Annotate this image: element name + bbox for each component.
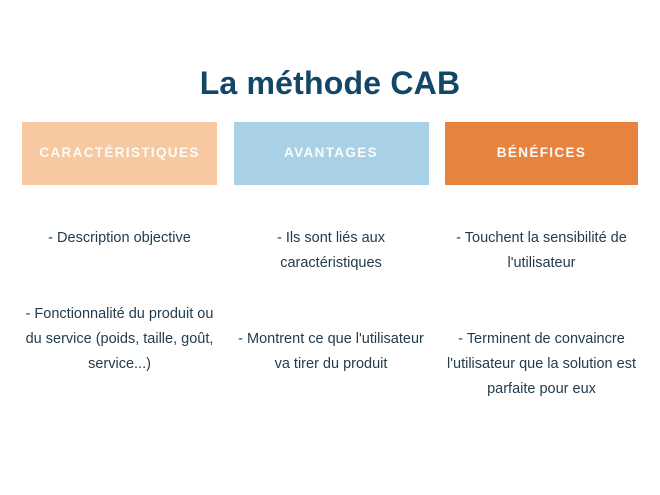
column-body-benefices: - Touchent la sensibilité de l'utilisate…: [445, 211, 638, 416]
bullet-item: - Touchent la sensibilité de l'utilisate…: [445, 226, 638, 276]
column-avantages: AVANTAGES - Ils sont liés aux caractéris…: [234, 122, 429, 391]
bullet-item: - Fonctionnalité du produit ou du servic…: [22, 302, 217, 377]
bullet-item: - Terminent de convaincre l'utilisateur …: [445, 327, 638, 402]
column-body-avantages: - Ils sont liés aux caractéristiques - M…: [234, 211, 429, 391]
bullet-item: - Description objective: [22, 226, 217, 251]
bullet-item: - Montrent ce que l'utilisateur va tirer…: [234, 327, 429, 377]
column-benefices: BÉNÉFICES - Touchent la sensibilité de l…: [445, 122, 638, 416]
column-header-label-avantages: AVANTAGES: [284, 145, 378, 161]
column-header-avantages: AVANTAGES: [234, 122, 429, 185]
column-header-label-caracteristiques: CARACTÉRISTIQUES: [39, 145, 199, 161]
cab-columns: CARACTÉRISTIQUES - Description objective…: [22, 122, 638, 416]
slide-canvas: La méthode CAB CARACTÉRISTIQUES - Descri…: [0, 0, 660, 495]
column-header-caracteristiques: CARACTÉRISTIQUES: [22, 122, 217, 185]
bullet-item: - Ils sont liés aux caractéristiques: [234, 226, 429, 276]
column-header-benefices: BÉNÉFICES: [445, 122, 638, 185]
page-title: La méthode CAB: [0, 65, 660, 102]
column-caracteristiques: CARACTÉRISTIQUES - Description objective…: [22, 122, 217, 391]
column-body-caracteristiques: - Description objective - Fonctionnalité…: [22, 211, 217, 391]
column-header-label-benefices: BÉNÉFICES: [497, 145, 586, 161]
